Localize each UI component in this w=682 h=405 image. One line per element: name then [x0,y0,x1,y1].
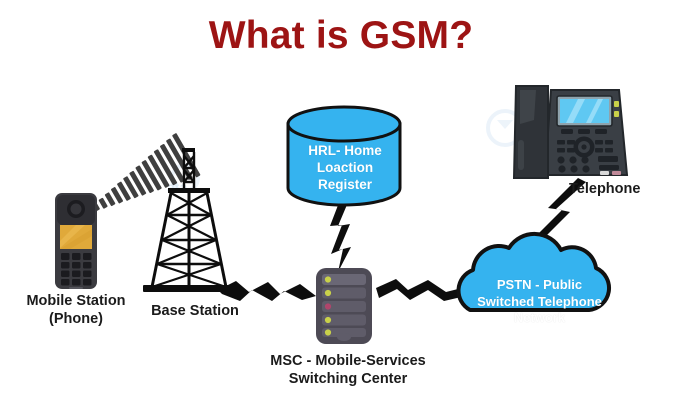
mobile-phone-icon [55,193,97,289]
base-station-caption: Base Station [140,302,250,320]
mobile-station-caption: Mobile Station (Phone) [6,292,146,328]
pstn-label: PSTN - Public Switched Telephone Network [452,277,627,327]
msc-caption: MSC - Mobile-Services Switching Center [258,352,438,388]
server-rack-icon [316,268,372,344]
cell-tower-icon [143,148,235,292]
hlr-label: HRL- Home Loaction Register [286,142,404,193]
icons-layer [0,0,682,405]
desk-phone-icon [514,86,627,178]
telephone-caption: Telephone [569,180,669,198]
diagram-canvas: What is GSM? uata ata [0,0,682,405]
